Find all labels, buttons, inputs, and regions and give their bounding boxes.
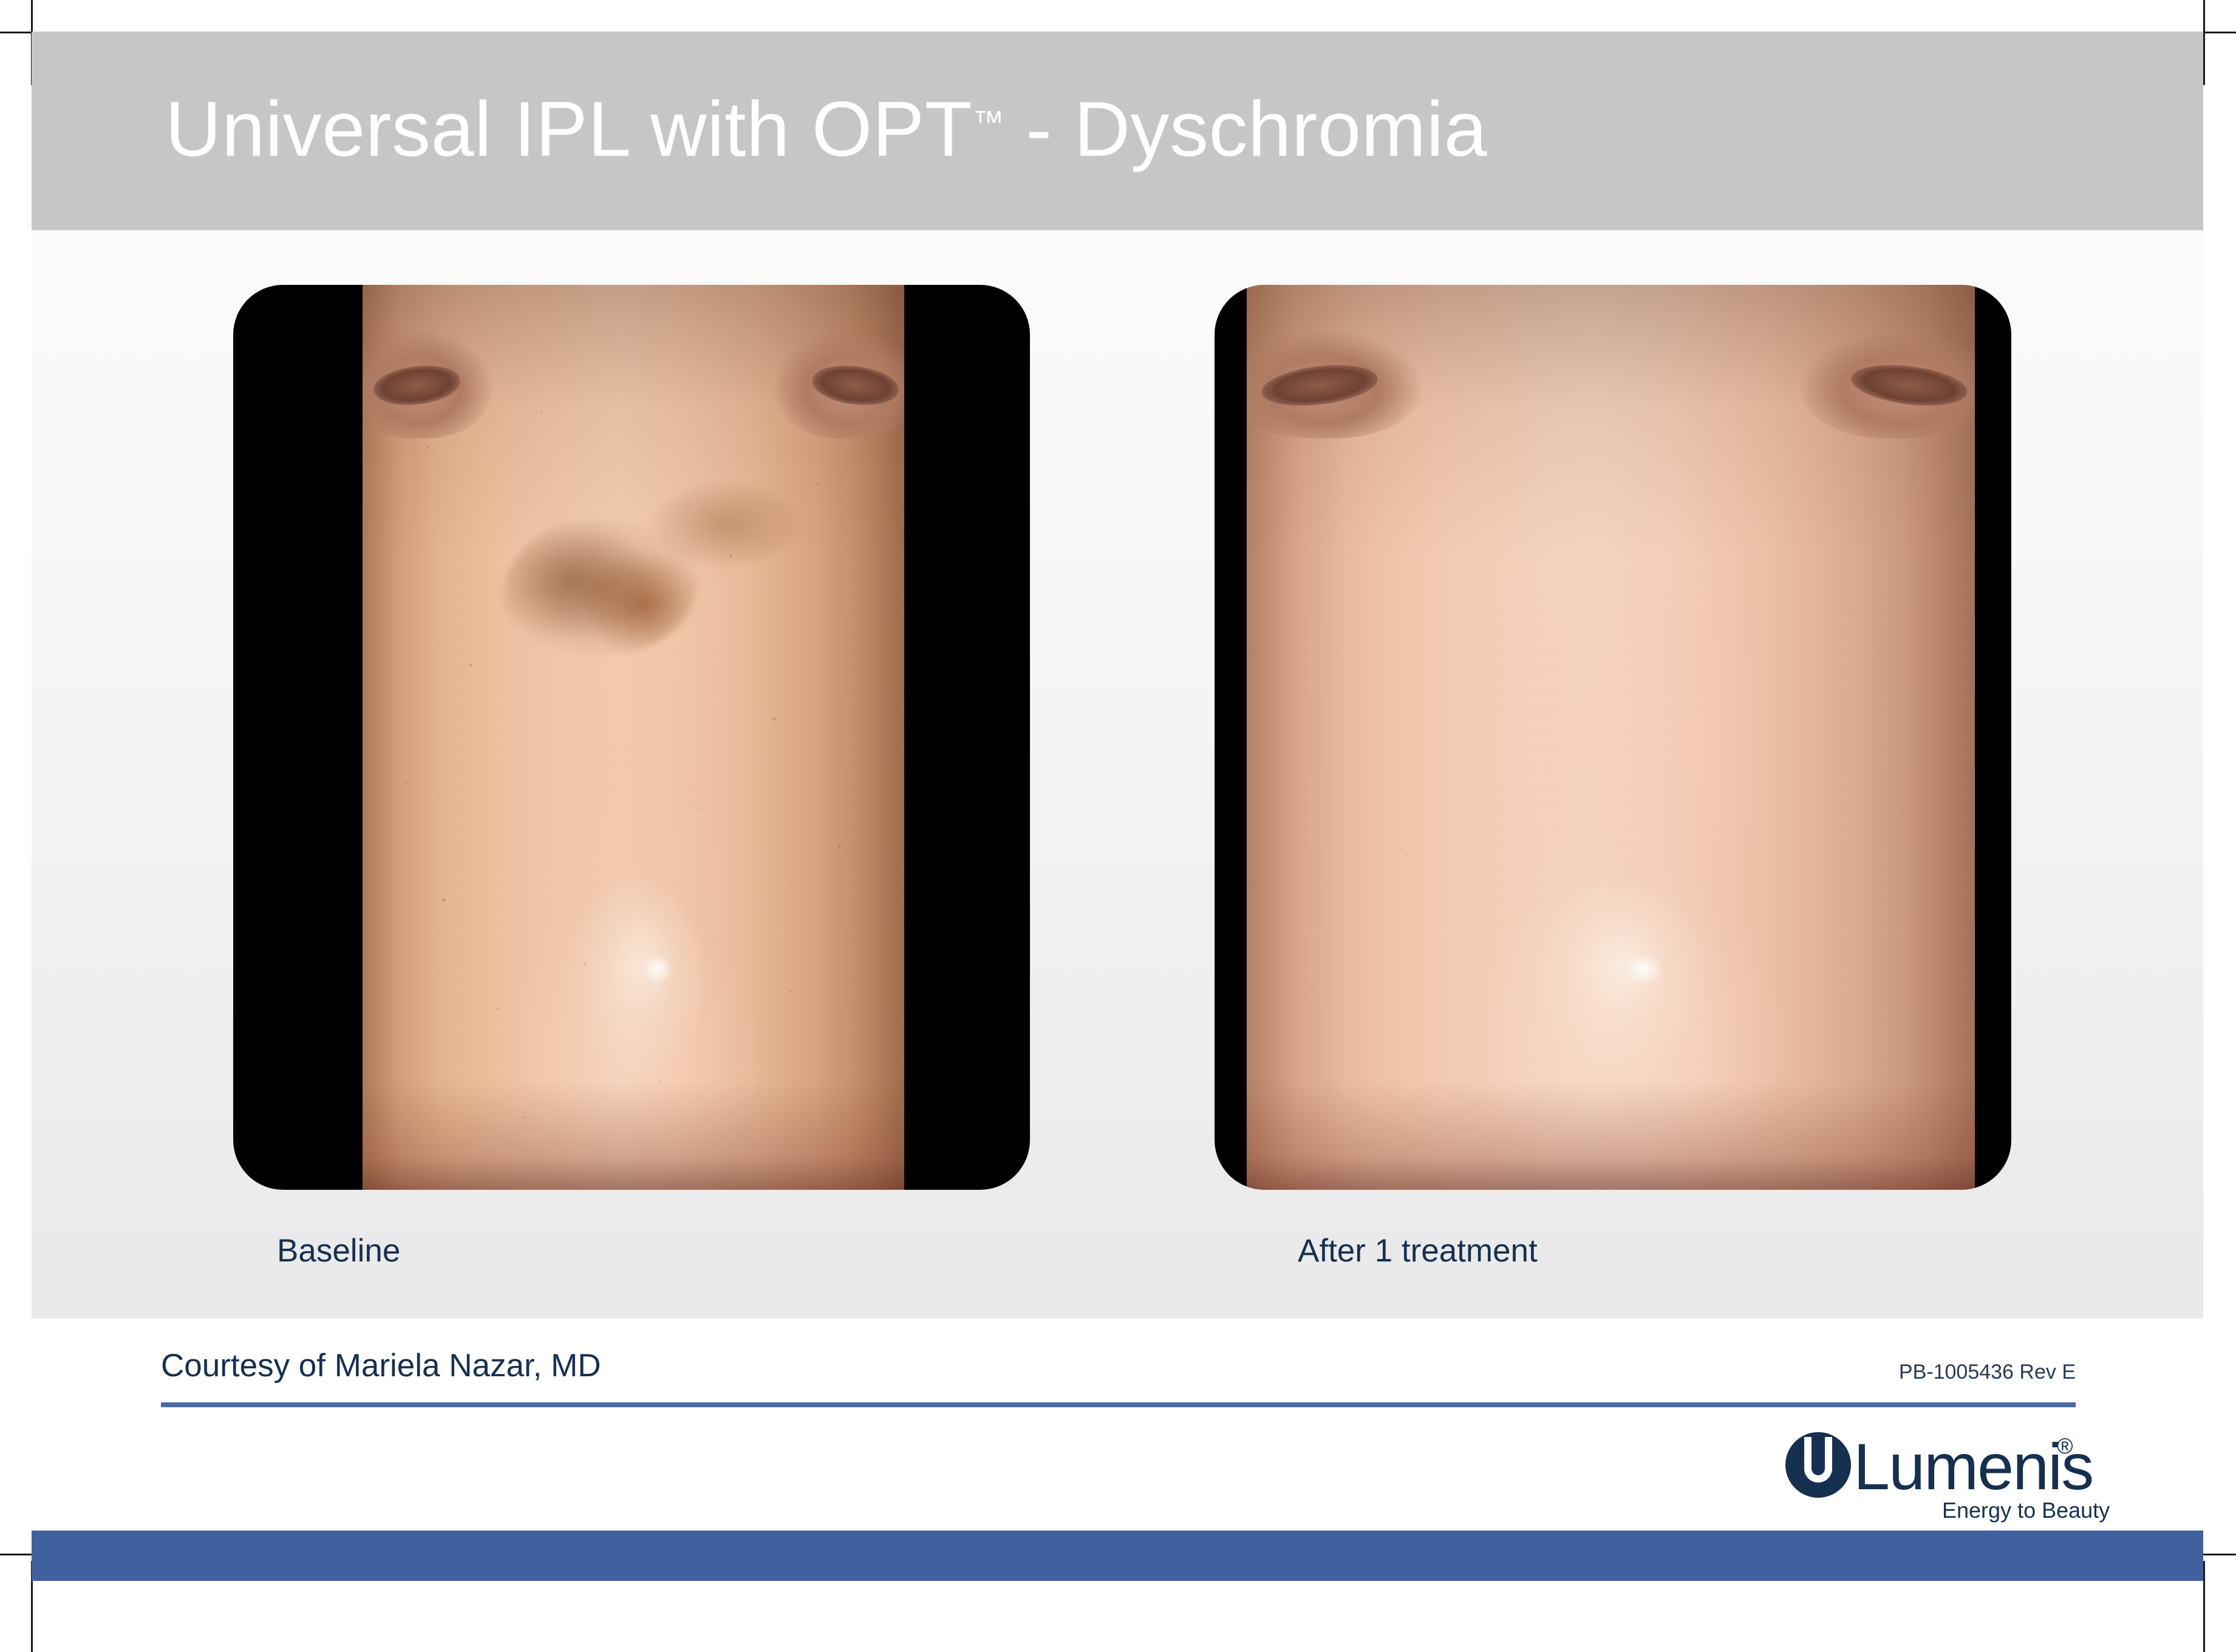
page-title: Universal IPL with OPT™ - Dyschromia [165,84,1487,174]
crop-mark-top-right-vertical [2203,0,2205,85]
photo-caption-baseline: Baseline [277,1232,400,1269]
photo-image-baseline [363,285,904,1190]
photo-caption-after: After 1 treatment [1298,1232,1538,1269]
page-title-suffix: - Dyschromia [1004,86,1487,172]
title-banner: Universal IPL with OPT™ - Dyschromia [32,32,2203,230]
footer-bar [32,1531,2203,1581]
crop-mark-bottom-right-vertical [2203,1561,2205,1652]
horizontal-rule [161,1402,2076,1407]
trademark-symbol: ™ [972,104,1004,140]
page-title-main: Universal IPL with OPT [165,86,972,172]
photo-card-after [1215,285,2011,1190]
photo-image-after [1247,285,1975,1190]
content-panel: Baseline After 1 treatment [32,230,2203,1319]
courtesy-row: Courtesy of Mariela Nazar, MD PB-1005436… [161,1347,2076,1403]
photo-grain-overlay [363,285,904,1190]
lumenis-u-mark-icon [1785,1432,1851,1498]
courtesy-credit: Courtesy of Mariela Nazar, MD [161,1347,601,1384]
photo-grain-overlay [1247,285,1975,1190]
part-number: PB-1005436 Rev E [1899,1360,2076,1384]
lumenis-logo: Lumenis ® Energy to Beauty [1785,1432,2083,1520]
photo-card-baseline [233,285,1030,1190]
lumenis-tagline: Energy to Beauty [1942,1498,2110,1523]
registered-trademark-icon: ® [2057,1433,2073,1459]
